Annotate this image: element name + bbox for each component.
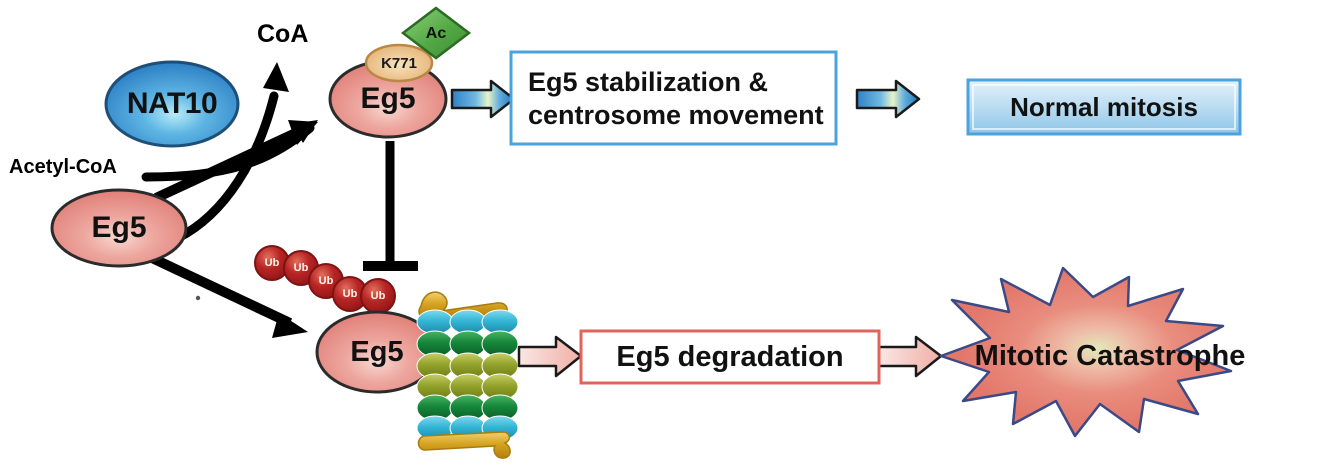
coa-label: CoA [257, 22, 308, 47]
node-proteasome[interactable] [417, 292, 518, 458]
node-ubiquitin-chain[interactable] [255, 246, 395, 313]
node-eg5-substrate[interactable] [52, 190, 186, 266]
box-eg5-degradation[interactable] [581, 331, 879, 383]
arrow-proteasome-to-degradation [519, 337, 581, 376]
edge-inhibition-bar [363, 141, 418, 268]
shape-mitotic-catastrophe-burst[interactable] [941, 268, 1231, 436]
box-eg5-stabilization[interactable] [511, 52, 836, 144]
acetyl-coa-label: Acetyl-CoA [9, 157, 117, 177]
node-k771-site[interactable] [366, 45, 432, 81]
arrow-stabilization-to-normal-mitosis [857, 81, 919, 117]
arrow-acetyl-eg5-to-stabilization [452, 81, 514, 117]
arrow-degradation-to-catastrophe [879, 337, 941, 376]
node-nat10[interactable] [106, 62, 238, 146]
box-normal-mitosis[interactable] [968, 80, 1240, 134]
diagram-canvas [0, 0, 1321, 469]
pathway-diagram: NAT10 Eg5 Eg5 Eg5 K771 Ac Ub Ub Ub Ub Ub… [0, 0, 1321, 469]
